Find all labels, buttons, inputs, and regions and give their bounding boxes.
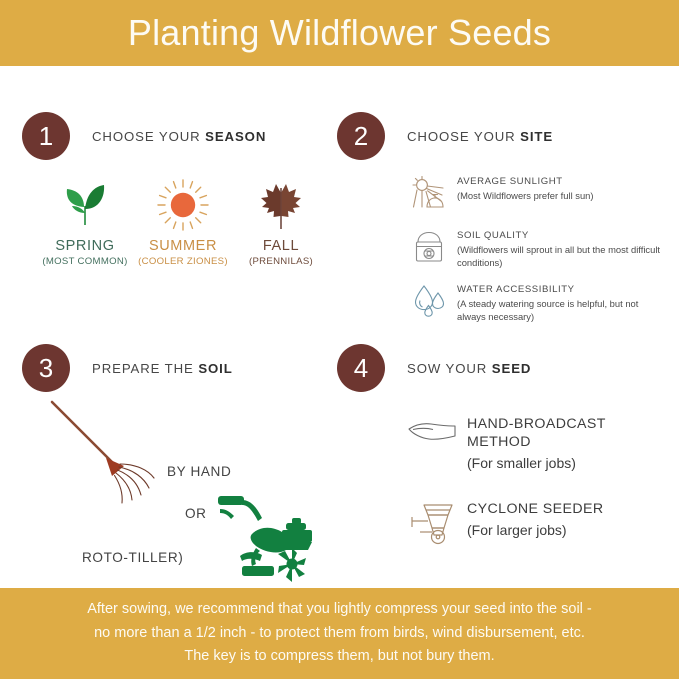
step-3-by-hand: BY HAND xyxy=(167,464,231,479)
bullet-soil-quality-text: SOIL QUALITY (Wildflowers will sprout in… xyxy=(457,228,667,270)
bullet-cyclone-seeder-text: CYCLONE SEEDER (For larger jobs) xyxy=(467,499,603,541)
sunlight-icon xyxy=(407,174,451,216)
step-4: 4 SOW YOUR SEED xyxy=(337,344,667,567)
bullet-soil-quality-sub: (Wildflowers will sprout in all but the … xyxy=(457,243,667,270)
step-1-number: 1 xyxy=(22,112,70,160)
bullet-cyclone-seeder-sub: (For larger jobs) xyxy=(467,521,603,541)
seasons-row: SPRING (MOST COMMON) xyxy=(22,176,342,267)
page-title: Planting Wildflower Seeds xyxy=(128,15,551,51)
step-3-header: 3 PREPARE THE SOIL xyxy=(22,344,342,392)
footer-line-3: The key is to compress them, but not bur… xyxy=(40,645,640,668)
bullet-soil-quality: SOIL QUALITY (Wildflowers will sprout in… xyxy=(407,228,667,270)
sun-icon xyxy=(134,176,232,234)
roto-tiller-icon xyxy=(212,490,324,591)
leaves-icon xyxy=(36,176,134,234)
season-spring: SPRING (MOST COMMON) xyxy=(36,176,134,267)
season-fall-note: (PRENNILAS) xyxy=(232,256,330,267)
step-2-header: 2 CHOOSE YOUR SITE xyxy=(337,112,667,160)
step-1-header: 1 CHOOSE YOUR SEASON xyxy=(22,112,342,160)
season-spring-note: (MOST COMMON) xyxy=(36,256,134,267)
bullet-average-sunlight-text: AVERAGE SUNLIGHT (Most Wildflowers prefe… xyxy=(457,174,594,202)
footer-note: After sowing, we recommend that you ligh… xyxy=(40,598,640,668)
step-4-title-bold: SEED xyxy=(492,361,532,376)
bullet-average-sunlight-sub: (Most Wildflowers prefer full sun) xyxy=(457,189,594,202)
step-3-number: 3 xyxy=(22,344,70,392)
water-drops-icon xyxy=(407,282,451,324)
step-3: 3 PREPARE THE SOIL xyxy=(22,344,342,584)
cyclone-seeder-icon xyxy=(405,499,461,541)
step-4-header: 4 SOW YOUR SEED xyxy=(337,344,667,392)
bullet-cyclone-seeder: CYCLONE SEEDER (For larger jobs) xyxy=(405,499,667,541)
bullet-hand-broadcast-text: HAND-BROADCAST METHOD (For smaller jobs) xyxy=(467,414,667,473)
step-4-title-prefix: SOW YOUR xyxy=(407,361,492,376)
footer-band: After sowing, we recommend that you ligh… xyxy=(0,588,679,679)
step-4-number: 4 xyxy=(337,344,385,392)
bullet-cyclone-seeder-title: CYCLONE SEEDER xyxy=(467,501,603,519)
step-3-body: BY HAND OR ROTO-TILLER) xyxy=(22,394,342,584)
season-fall: FALL (PRENNILAS) xyxy=(232,176,330,267)
header-band: Planting Wildflower Seeds xyxy=(0,0,679,66)
bullet-hand-broadcast: HAND-BROADCAST METHOD (For smaller jobs) xyxy=(405,414,667,473)
maple-leaf-icon xyxy=(232,176,330,234)
season-fall-name: FALL xyxy=(232,238,330,254)
bullet-water-accessibility-sub: (A steady watering source is helpful, bu… xyxy=(457,297,667,324)
step-4-title: SOW YOUR SEED xyxy=(407,361,531,376)
step-1: 1 CHOOSE YOUR SEASON SPRING xyxy=(22,112,342,267)
season-spring-name: SPRING xyxy=(36,238,134,254)
site-bullets: AVERAGE SUNLIGHT (Most Wildflowers prefe… xyxy=(337,174,667,324)
rake-icon xyxy=(50,400,190,525)
step-3-or: OR xyxy=(185,506,207,521)
step-1-title-prefix: CHOOSE YOUR xyxy=(92,129,205,144)
step-3-title: PREPARE THE SOIL xyxy=(92,361,233,376)
bullet-hand-broadcast-sub: (For smaller jobs) xyxy=(467,454,667,474)
footer-line-1: After sowing, we recommend that you ligh… xyxy=(40,598,640,621)
step-1-title-bold: SEASON xyxy=(205,129,266,144)
bullet-water-accessibility: WATER ACCESSIBILITY (A steady watering s… xyxy=(407,282,667,324)
bullet-average-sunlight: AVERAGE SUNLIGHT (Most Wildflowers prefe… xyxy=(407,174,667,216)
step-3-title-prefix: PREPARE THE xyxy=(92,361,198,376)
bullet-average-sunlight-title: AVERAGE SUNLIGHT xyxy=(457,176,594,188)
bullet-water-accessibility-title: WATER ACCESSIBILITY xyxy=(457,284,667,296)
season-summer: SUMMER (COOLER ZIONES) xyxy=(134,176,232,267)
step-2-title: CHOOSE YOUR SITE xyxy=(407,129,553,144)
season-summer-note: (COOLER ZIONES) xyxy=(134,256,232,267)
bullet-soil-quality-title: SOIL QUALITY xyxy=(457,230,667,242)
step-2-number: 2 xyxy=(337,112,385,160)
open-hand-icon xyxy=(405,414,461,456)
step-2: 2 CHOOSE YOUR SITE xyxy=(337,112,667,336)
step-2-title-bold: SITE xyxy=(520,129,553,144)
sow-bullets: HAND-BROADCAST METHOD (For smaller jobs) xyxy=(337,414,667,541)
step-3-title-bold: SOIL xyxy=(198,361,232,376)
footer-line-2: no more than a 1/2 inch - to protect the… xyxy=(40,622,640,645)
bullet-water-accessibility-text: WATER ACCESSIBILITY (A steady watering s… xyxy=(457,282,667,324)
infographic-page: Planting Wildflower Seeds 1 CHOOSE YOUR … xyxy=(0,0,679,679)
step-2-title-prefix: CHOOSE YOUR xyxy=(407,129,520,144)
step-1-title: CHOOSE YOUR SEASON xyxy=(92,129,266,144)
soil-bag-icon xyxy=(407,228,451,270)
season-summer-name: SUMMER xyxy=(134,238,232,254)
step-3-roto-tiller: ROTO-TILLER) xyxy=(82,550,183,565)
bullet-hand-broadcast-title: HAND-BROADCAST METHOD xyxy=(467,416,667,452)
steps-container: 1 CHOOSE YOUR SEASON SPRING xyxy=(0,66,679,588)
